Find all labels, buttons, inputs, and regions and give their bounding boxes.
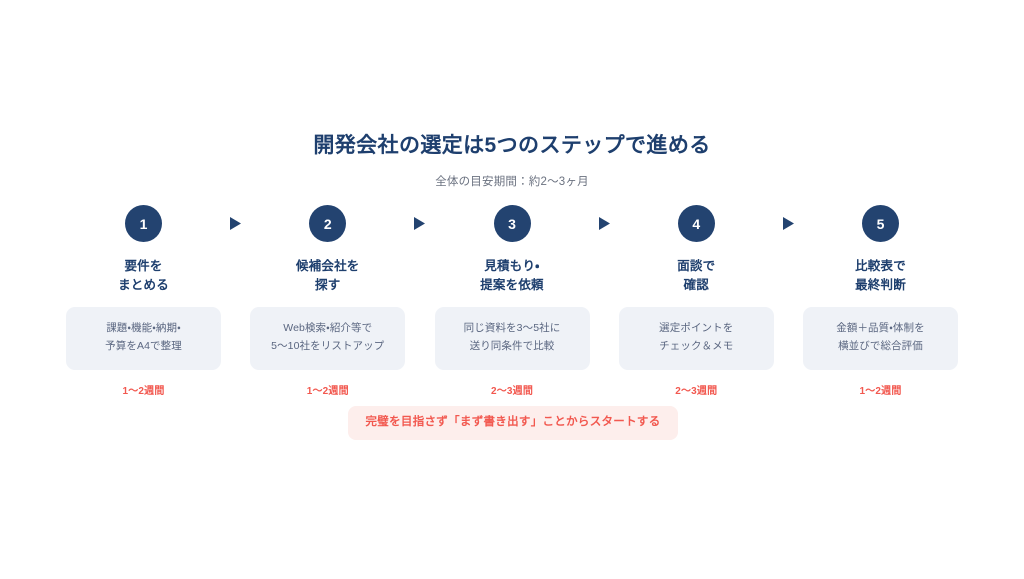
step-detail-text-2: Web検索・紹介等で 5〜10社をリストアップ <box>271 320 384 356</box>
step-detail-card-2: Web検索・紹介等で 5〜10社をリストアップ <box>250 307 405 370</box>
step-duration-3: 2〜3週間 <box>491 382 533 397</box>
triangle-right-icon <box>228 205 244 242</box>
step-item-5: 5 比較表で 最終判断 金額＋品質・体制を 横並びで総合評価 1〜2週間 <box>803 205 958 397</box>
step-detail-text-3: 同じ資料を3〜5社に 送り同条件で比較 <box>464 320 561 356</box>
step-title-1: 要件を まとめる <box>118 257 169 296</box>
callout-banner: 完璧を目指さず「まず書き出す」ことからスタートする <box>348 406 678 440</box>
step-item-2: 2 候補会社を 探す Web検索・紹介等で 5〜10社をリストアップ 1〜2週間 <box>250 205 405 397</box>
step-title-5: 比較表で 最終判断 <box>855 257 906 296</box>
step-title-2: 候補会社を 探す <box>296 257 360 296</box>
step-number-badge-5: 5 <box>862 205 899 242</box>
step-number-badge-2: 2 <box>309 205 346 242</box>
step-number-badge-3: 3 <box>494 205 531 242</box>
step-duration-1: 1〜2週間 <box>122 382 164 397</box>
step-number-badge-1: 1 <box>125 205 162 242</box>
step-duration-5: 1〜2週間 <box>859 382 901 397</box>
step-item-3: 3 見積もり・ 提案を依頼 同じ資料を3〜5社に 送り同条件で比較 2〜3週間 <box>435 205 590 397</box>
step-detail-card-5: 金額＋品質・体制を 横並びで総合評価 <box>803 307 958 370</box>
heading-block: 開発会社の選定は5つのステップで進める 全体の目安期間：約2〜3ヶ月 <box>0 132 1024 189</box>
step-detail-text-1: 課題・機能・納期・ 予算をA4で整理 <box>105 320 182 356</box>
step-title-4: 面談で 確認 <box>677 257 715 296</box>
step-detail-text-5: 金額＋品質・体制を 横並びで総合評価 <box>836 320 924 356</box>
triangle-right-icon <box>412 205 428 242</box>
page-subtitle: 全体の目安期間：約2〜3ヶ月 <box>0 159 1024 189</box>
triangle-right-icon <box>780 205 796 242</box>
step-detail-card-3: 同じ資料を3〜5社に 送り同条件で比較 <box>435 307 590 370</box>
steps-row: 1 要件を まとめる 課題・機能・納期・ 予算をA4で整理 1〜2週間 2 候補… <box>66 205 958 397</box>
step-detail-text-4: 選定ポイントを チェック＆メモ <box>659 320 733 356</box>
triangle-right-icon <box>596 205 612 242</box>
page-title: 開発会社の選定は5つのステップで進める <box>0 132 1024 159</box>
step-detail-card-1: 課題・機能・納期・ 予算をA4で整理 <box>66 307 221 370</box>
step-title-3: 見積もり・ 提案を依頼 <box>480 257 544 296</box>
step-item-1: 1 要件を まとめる 課題・機能・納期・ 予算をA4で整理 1〜2週間 <box>66 205 221 397</box>
step-detail-card-4: 選定ポイントを チェック＆メモ <box>619 307 774 370</box>
step-number-badge-4: 4 <box>678 205 715 242</box>
step-duration-2: 1〜2週間 <box>307 382 349 397</box>
step-item-4: 4 面談で 確認 選定ポイントを チェック＆メモ 2〜3週間 <box>619 205 774 397</box>
callout-text: 完璧を目指さず「まず書き出す」ことからスタートする <box>366 417 661 429</box>
step-duration-4: 2〜3週間 <box>675 382 717 397</box>
step-flow-infographic: 開発会社の選定は5つのステップで進める 全体の目安期間：約2〜3ヶ月 1 要件を… <box>0 0 1024 579</box>
